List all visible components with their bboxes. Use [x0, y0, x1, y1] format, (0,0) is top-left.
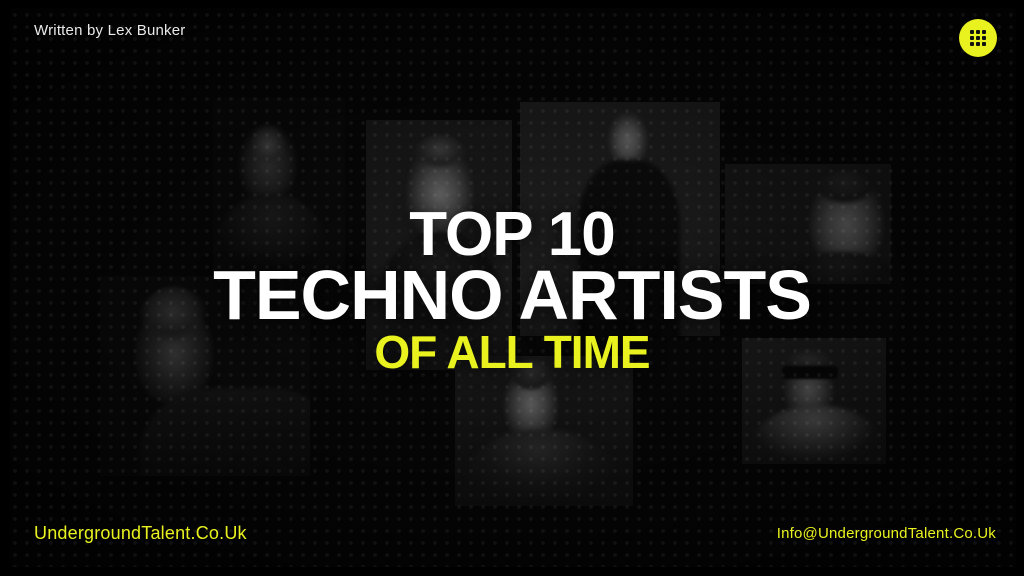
headline-line-2: TECHNO ARTISTS	[0, 265, 1024, 327]
page-title: TOP 10 TECHNO ARTISTS OF ALL TIME	[0, 208, 1024, 373]
poster-canvas: Written by Lex Bunker TOP 10 TECHNO ARTI…	[0, 0, 1024, 576]
grid-menu-button[interactable]	[959, 19, 997, 57]
grid-dot	[976, 42, 980, 46]
grid-dot	[982, 42, 986, 46]
artist-silhouette-6	[455, 356, 633, 506]
grid-dot	[970, 42, 974, 46]
grid-menu-icon	[970, 30, 986, 46]
headline-line-1: TOP 10	[0, 208, 1024, 263]
contact-email[interactable]: Info@UndergroundTalent.Co.Uk	[777, 525, 996, 542]
headline-line-3: OF ALL TIME	[0, 332, 1024, 372]
grid-dot	[976, 36, 980, 40]
byline-text: Written by Lex Bunker	[34, 22, 186, 39]
artist-photo-6	[455, 356, 633, 506]
artist-head-1	[235, 114, 301, 206]
website-url[interactable]: UndergroundTalent.Co.Uk	[34, 523, 247, 544]
grid-dot	[982, 30, 986, 34]
artist-torso-6	[461, 430, 621, 506]
grid-dot	[976, 30, 980, 34]
grid-dot	[982, 36, 986, 40]
grid-dot	[970, 36, 974, 40]
grid-dot	[970, 30, 974, 34]
artist-torso-7	[748, 406, 886, 464]
